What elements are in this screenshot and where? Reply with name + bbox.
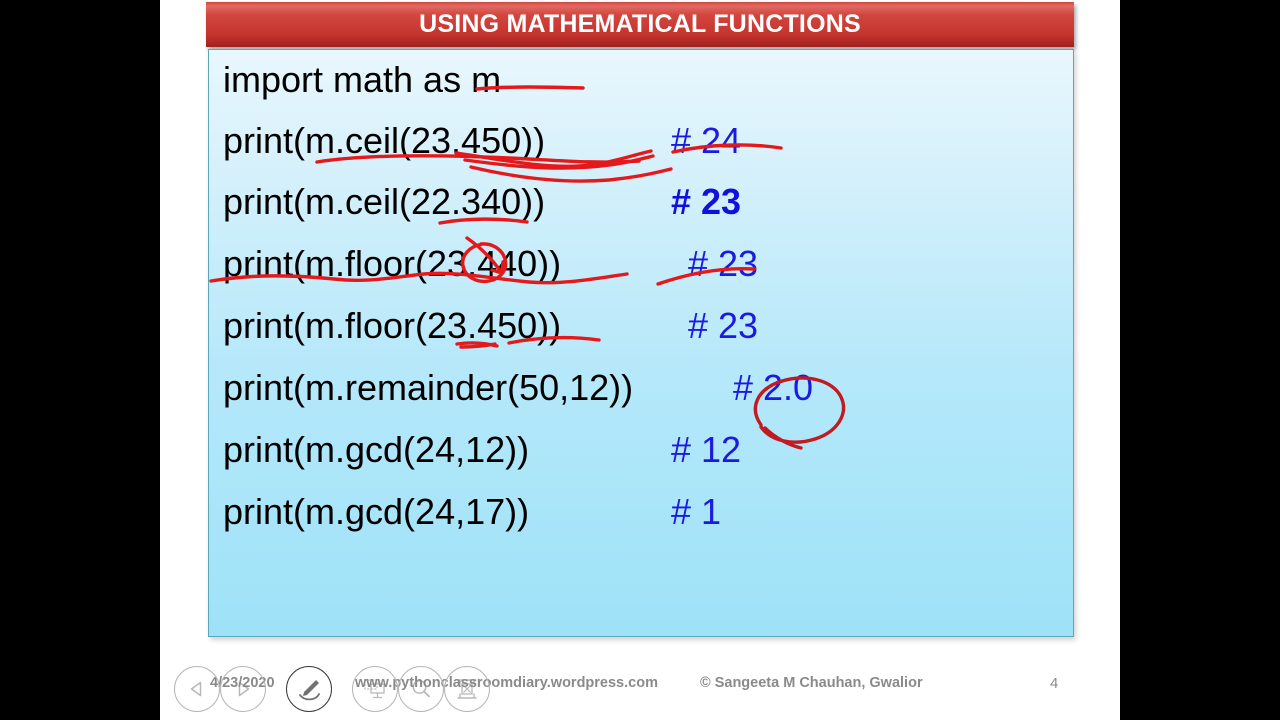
code-line-3: print(m.ceil(22.340)) # 23	[223, 176, 545, 228]
presentation-toolbar	[160, 662, 1120, 718]
pen-tool-button[interactable]	[286, 666, 332, 712]
zoom-button[interactable]	[398, 666, 444, 712]
code-line-1: import math as m	[223, 54, 501, 106]
code-comment: # 23	[688, 238, 758, 290]
code-statement: print(m.ceil(23.450))	[223, 115, 545, 167]
triangle-left-icon	[186, 678, 208, 700]
code-comment: # 23	[671, 176, 741, 228]
ink-circle-2point0-tail	[765, 428, 801, 448]
slide-canvas: USING MATHEMATICAL FUNCTIONS import math…	[160, 0, 1120, 720]
code-line-4: print(m.floor(23.440)) # 23	[223, 238, 561, 290]
code-line-6: print(m.remainder(50,12)) # 2.0	[223, 362, 633, 414]
triangle-right-icon	[232, 678, 254, 700]
page-title: USING MATHEMATICAL FUNCTIONS	[419, 10, 861, 39]
code-statement: print(m.floor(23.450))	[223, 300, 561, 352]
code-content-box: import math as m print(m.ceil(23.450)) #…	[208, 49, 1074, 637]
magnifier-icon	[408, 676, 434, 702]
ellipsis-box-icon	[453, 675, 481, 703]
code-comment: # 23	[688, 300, 758, 352]
code-statement: print(m.gcd(24,17))	[223, 486, 529, 538]
code-statement: import math as m	[223, 54, 501, 106]
next-slide-button[interactable]	[220, 666, 266, 712]
code-statement: print(m.gcd(24,12))	[223, 424, 529, 476]
code-statement: print(m.ceil(22.340))	[223, 176, 545, 228]
code-line-7: print(m.gcd(24,12)) # 12	[223, 424, 529, 476]
code-statement: print(m.remainder(50,12))	[223, 362, 633, 414]
code-line-8: print(m.gcd(24,17)) # 1	[223, 486, 529, 538]
code-line-5: print(m.floor(23.450)) # 23	[223, 300, 561, 352]
presentation-screen: USING MATHEMATICAL FUNCTIONS import math…	[0, 0, 1280, 720]
previous-slide-button[interactable]	[174, 666, 220, 712]
pen-icon	[295, 675, 323, 703]
code-comment: # 1	[671, 486, 721, 538]
more-options-button[interactable]	[444, 666, 490, 712]
grid-slides-icon	[362, 676, 388, 702]
all-slides-button[interactable]	[352, 666, 398, 712]
code-comment: # 2.0	[733, 362, 813, 414]
code-comment: # 12	[671, 424, 741, 476]
slide-title-banner: USING MATHEMATICAL FUNCTIONS	[206, 2, 1074, 47]
code-statement: print(m.floor(23.440))	[223, 238, 561, 290]
code-comment: # 24	[671, 115, 741, 167]
code-line-2: print(m.ceil(23.450)) # 24	[223, 115, 545, 167]
